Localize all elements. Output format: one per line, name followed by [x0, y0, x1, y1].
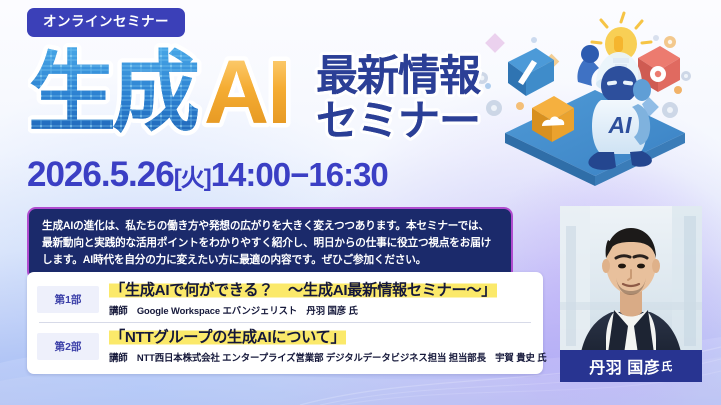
speaker-photo-card: 丹羽 国彦氏	[560, 206, 702, 382]
event-time: 14:00−16:30	[211, 156, 388, 193]
title-seisei: 生成 生成 生成	[28, 43, 198, 142]
ai-robot-illustration: AI	[470, 0, 721, 200]
event-datetime: 2026.5.26[火]14:00−16:30	[27, 157, 388, 192]
speaker-name-suffix: 氏	[661, 358, 673, 374]
description-box: 生成AIの進化は、私たちの働き方や発想の広がりを大きく変えつつあります。本セミナ…	[27, 207, 513, 280]
session-badge: 第2部	[37, 333, 99, 360]
session-body: 「生成AIで何ができる？ 〜生成AI最新情報セミナー〜」 講師 Google W…	[109, 281, 533, 317]
svg-text:AI: AI	[204, 43, 290, 143]
event-date: 2026.5.26	[27, 155, 174, 194]
online-seminar-badge: オンラインセミナー	[27, 8, 185, 37]
session-speaker: 講師 NTT西日本株式会社 エンタープライズ営業部 デジタルデータビジネス担当 …	[109, 350, 533, 364]
event-day-of-week: [火]	[174, 165, 211, 192]
sessions-panel: 第1部 「生成AIで何ができる？ 〜生成AI最新情報セミナー〜」 講師 Goog…	[27, 272, 543, 374]
svg-text:セミナー: セミナー	[316, 97, 480, 144]
session-row: 第1部 「生成AIで何ができる？ 〜生成AI最新情報セミナー〜」 講師 Goog…	[35, 277, 535, 321]
svg-text:生成: 生成	[28, 43, 198, 142]
pencil-note-icon	[508, 48, 554, 96]
session-title: 「生成AIで何ができる？ 〜生成AI最新情報セミナー〜」	[109, 281, 533, 300]
title-sub: 最新情報 最新情報 セミナー セミナー	[316, 52, 482, 144]
svg-text:AI: AI	[608, 112, 633, 138]
title-ai: AI AI	[204, 43, 290, 143]
description-text: 生成AIの進化は、私たちの働き方や発想の広がりを大きく変えつつあります。本セミナ…	[42, 218, 499, 269]
session-badge: 第1部	[37, 286, 99, 313]
speaker-name-caption: 丹羽 国彦氏	[560, 350, 702, 382]
session-title: 「NTTグループの生成AIについて」	[109, 328, 533, 347]
speaker-name: 丹羽 国彦	[589, 354, 660, 378]
session-body: 「NTTグループの生成AIについて」 講師 NTT西日本株式会社 エンタープライ…	[109, 328, 533, 364]
svg-text:最新情報: 最新情報	[316, 52, 482, 99]
session-divider	[39, 322, 531, 323]
session-row: 第2部 「NTTグループの生成AIについて」 講師 NTT西日本株式会社 エンタ…	[35, 324, 535, 368]
seminar-banner: AI オンラインセミナー	[0, 0, 721, 405]
main-title: 生成 生成 生成 AI AI 最新情報 最新情報 セミナー セミナー	[28, 43, 498, 151]
session-speaker: 講師 Google Workspace エバンジェリスト 丹羽 国彦 氏	[109, 303, 533, 317]
